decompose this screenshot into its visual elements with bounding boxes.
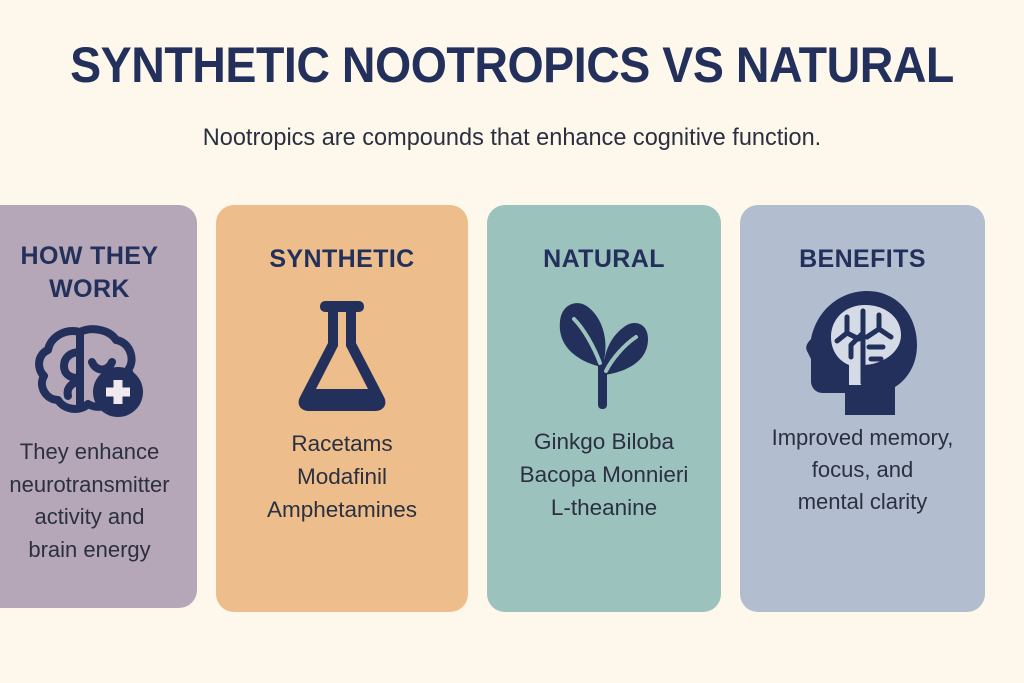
card-title: SYNTHETIC <box>229 243 456 276</box>
card-body-line: Amphetamines <box>224 494 461 527</box>
card-body: Racetams Modafinil Amphetamines <box>224 428 461 527</box>
card-body-line: focus, and <box>747 454 977 486</box>
card-body-line: brain energy <box>0 534 191 567</box>
card-title: NATURAL <box>499 243 710 276</box>
card-body-line: Ginkgo Biloba <box>494 426 714 459</box>
card-body-line: Racetams <box>224 428 461 461</box>
brain-plus-icon <box>34 320 146 420</box>
head-brain-icon <box>805 288 921 418</box>
card-body: Improved memory, focus, and mental clari… <box>747 422 977 518</box>
card-body-line: Modafinil <box>224 461 461 494</box>
card-body-line: Improved memory, <box>747 422 977 454</box>
card-body: They enhance neurotransmitter activity a… <box>0 436 191 566</box>
card-title: HOW THEY WORK <box>0 240 186 306</box>
card-body-line: They enhance <box>0 436 191 469</box>
card-body-line: neurotransmitter <box>0 469 191 502</box>
card-natural[interactable]: NATURAL Ginkgo Biloba Bacopa Monnieri L-… <box>487 205 721 612</box>
card-body-line: mental clarity <box>747 486 977 518</box>
leaf-sprout-icon <box>552 296 656 414</box>
card-benefits[interactable]: BENEFITS Improved memory, focus, an <box>740 205 985 612</box>
header: SYNTHETIC NOOTROPICS VS NATURAL Nootropi… <box>0 0 1024 180</box>
card-synthetic[interactable]: SYNTHETIC Racetams Modafinil Amphetamine… <box>216 205 468 612</box>
card-title: BENEFITS <box>752 243 973 276</box>
card-body: Ginkgo Biloba Bacopa Monnieri L-theanine <box>494 426 714 525</box>
card-row: HOW THEY WORK They enhance neurotransmit… <box>0 205 1024 615</box>
card-body-line: activity and <box>0 501 191 534</box>
card-body-line: L-theanine <box>494 492 714 525</box>
card-how-they-work[interactable]: HOW THEY WORK They enhance neurotransmit… <box>0 205 197 608</box>
flask-icon <box>294 298 390 414</box>
page-title: SYNTHETIC NOOTROPICS VS NATURAL <box>36 40 988 90</box>
card-body-line: Bacopa Monnieri <box>494 459 714 492</box>
page-subtitle: Nootropics are compounds that enhance co… <box>20 124 1003 152</box>
